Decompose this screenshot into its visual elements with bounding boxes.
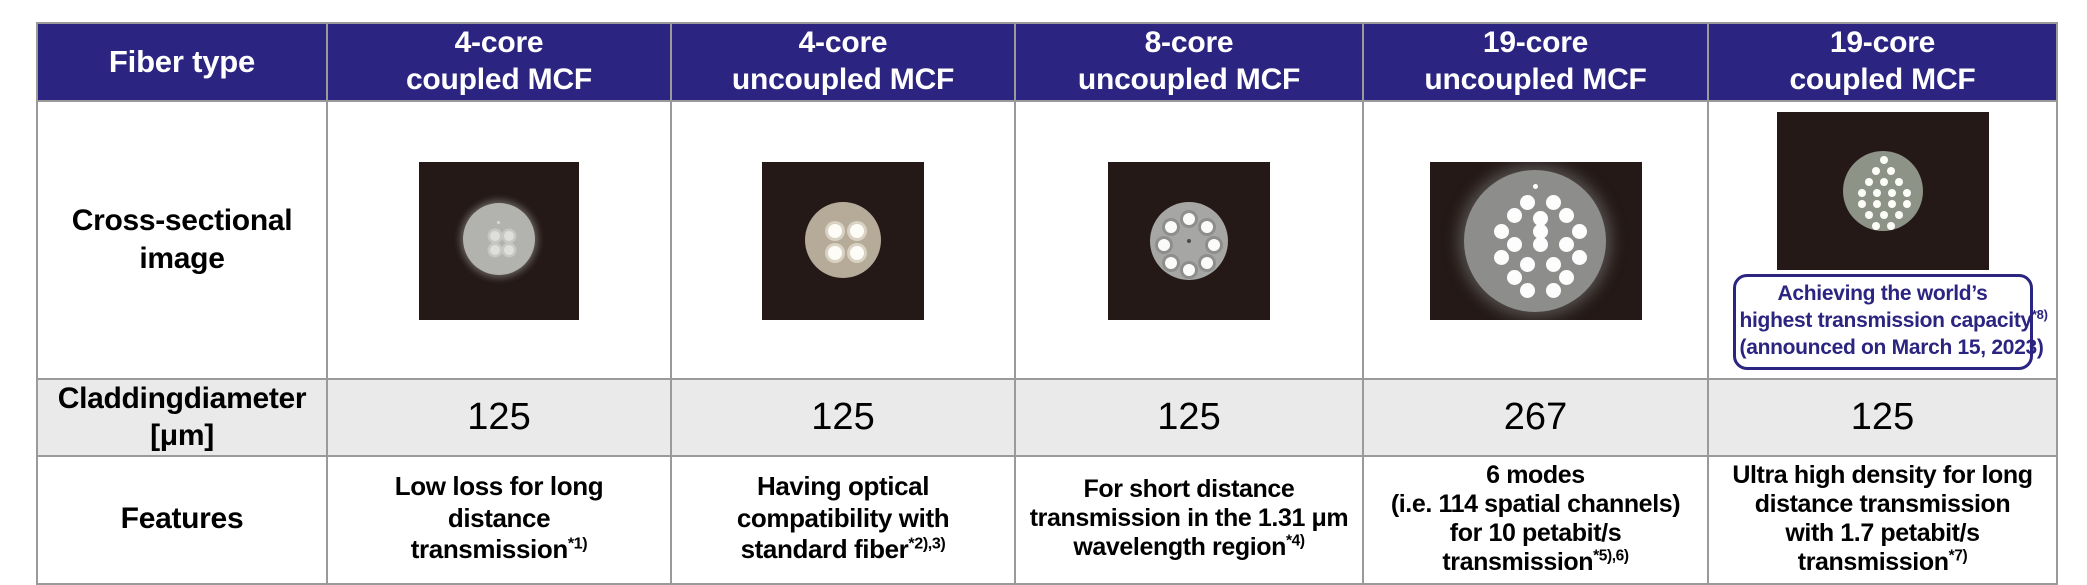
- core-16: [1895, 211, 1903, 219]
- core-2: [1546, 195, 1561, 210]
- cell-diameter-8core-uncoupled: 125: [1015, 379, 1363, 456]
- core-speck: [497, 221, 500, 224]
- feature-footnote-marker: *1): [568, 535, 587, 553]
- feature-line-2: distance: [333, 503, 665, 534]
- core-14: [1865, 211, 1873, 219]
- feature-line-2: transmission in the 1.31 μm: [1021, 504, 1357, 533]
- core-1: [1872, 167, 1880, 175]
- header-row: Fiber type 4-core coupled MCF 4-core unc…: [37, 23, 2057, 101]
- core-7: [1572, 224, 1587, 239]
- core-13: [1520, 257, 1535, 272]
- row-cladding-diameter: Claddingdiameter [μm] 125 125 125 267 12…: [37, 379, 2057, 456]
- core-18: [1887, 222, 1895, 230]
- core-10: [1858, 200, 1866, 208]
- core-1: [828, 224, 842, 238]
- header-line-1: 19-core: [1364, 25, 1707, 62]
- callout-line-2: highest transmission capacity*8): [1740, 308, 2026, 335]
- cell-diameter-4core-uncoupled: 125: [671, 379, 1015, 456]
- cell-diameter-19core-uncoupled: 267: [1363, 379, 1708, 456]
- cladding-disc: [805, 202, 881, 278]
- core-1: [1520, 195, 1535, 210]
- cell-image-4core-coupled: [327, 101, 671, 379]
- cross-section-image-19core-uncoupled: [1430, 162, 1642, 320]
- feature-line-3-text: transmission: [411, 534, 568, 564]
- feature-line-3-text: standard fiber: [741, 534, 909, 564]
- cell-features-19core-coupled: Ultra high density for long distance tra…: [1708, 456, 2057, 584]
- image-wrapper: [1016, 162, 1362, 320]
- core-5: [1183, 264, 1195, 276]
- feature-line-4-text: transmission: [1442, 548, 1593, 576]
- row-label-features: Features: [37, 456, 327, 584]
- core-17: [1520, 283, 1535, 298]
- core-4: [504, 245, 514, 255]
- core-11: [1494, 250, 1509, 265]
- feature-line-3: with 1.7 petabit/s: [1714, 519, 2051, 548]
- fiber-comparison-table: Fiber type 4-core coupled MCF 4-core unc…: [36, 22, 2058, 585]
- core-10: [1559, 237, 1574, 252]
- image-wrapper: [328, 162, 670, 320]
- core-3: [490, 245, 500, 255]
- row-label-line-1: Claddingdiameter: [38, 380, 326, 418]
- core-12: [1572, 250, 1587, 265]
- header-col-19core-coupled: 19-core coupled MCF: [1708, 23, 2057, 101]
- cross-section-image-8core-uncoupled: [1108, 162, 1270, 320]
- header-col-4core-uncoupled: 4-core uncoupled MCF: [671, 23, 1015, 101]
- header-line-2: coupled MCF: [1709, 62, 2056, 99]
- core-3: [828, 246, 842, 260]
- core-1: [1183, 213, 1195, 225]
- core-18: [1546, 283, 1561, 298]
- cell-features-8core-uncoupled: For short distance transmission in the 1…: [1015, 456, 1363, 584]
- feature-footnote-marker: *5),6): [1593, 547, 1629, 564]
- core-4: [1880, 178, 1888, 186]
- feature-line-4-text: transmission: [1798, 548, 1949, 576]
- core-15: [1507, 270, 1522, 285]
- feature-line-1: Ultra high density for long: [1714, 461, 2051, 490]
- feature-line-4: transmission*7): [1714, 548, 2051, 577]
- core-2: [1887, 167, 1895, 175]
- row-label-cladding-diameter: Claddingdiameter [μm]: [37, 379, 327, 456]
- core-12: [1888, 200, 1896, 208]
- header-line-2: uncoupled MCF: [1016, 62, 1362, 99]
- header-line-1: 8-core: [1016, 25, 1362, 62]
- row-label-line-2: image: [38, 240, 326, 278]
- core-1: [490, 231, 500, 241]
- core-5: [1895, 178, 1903, 186]
- core-2: [504, 231, 514, 241]
- core-16: [1559, 270, 1574, 285]
- feature-footnote-marker: *4): [1286, 533, 1305, 550]
- callout-line-2-text: highest transmission capacity: [1740, 309, 2032, 332]
- header-col-8core-uncoupled: 8-core uncoupled MCF: [1015, 23, 1363, 101]
- image-wrapper: [672, 162, 1014, 320]
- cell-features-19core-uncoupled: 6 modes (i.e. 114 spatial channels) for …: [1363, 456, 1708, 584]
- header-line-2: coupled MCF: [328, 62, 670, 99]
- core-3: [1507, 208, 1522, 223]
- core-4: [850, 246, 864, 260]
- image-wrapper: [1364, 162, 1707, 320]
- header-line-1: 4-core: [328, 25, 670, 62]
- cell-image-19core-uncoupled: [1363, 101, 1708, 379]
- feature-footnote-marker: *2),3): [908, 535, 945, 553]
- image-wrapper: Achieving the world’s highest transmissi…: [1709, 112, 2056, 370]
- core-15: [1880, 211, 1888, 219]
- row-label-cross-sectional-image: Cross-sectional image: [37, 101, 327, 379]
- feature-line-1: Low loss for long: [333, 471, 665, 502]
- feature-line-3: standard fiber*2),3): [677, 534, 1009, 565]
- feature-line-2: (i.e. 114 spatial channels): [1369, 490, 1702, 519]
- core-8: [1888, 189, 1896, 197]
- core-speck: [1533, 184, 1538, 189]
- cell-features-4core-uncoupled: Having optical compatibility with standa…: [671, 456, 1015, 584]
- cell-image-19core-coupled: Achieving the world’s highest transmissi…: [1708, 101, 2057, 379]
- row-cross-sectional-image: Cross-sectional image: [37, 101, 2057, 379]
- core-8: [1507, 237, 1522, 252]
- core-center-speck: [1187, 239, 1191, 243]
- header-line-2: uncoupled MCF: [1364, 62, 1707, 99]
- core-8: [1165, 221, 1177, 233]
- core-9: [1903, 189, 1911, 197]
- feature-line-3: wavelength region*4): [1021, 533, 1357, 562]
- cell-features-4core-coupled: Low loss for long distance transmission*…: [327, 456, 671, 584]
- feature-line-3: transmission*1): [333, 534, 665, 565]
- row-label-line-2: [μm]: [38, 417, 326, 455]
- core-7: [1158, 239, 1170, 251]
- cell-image-4core-uncoupled: [671, 101, 1015, 379]
- core-4: [1201, 257, 1213, 269]
- core-9: [1533, 237, 1548, 252]
- feature-line-2: distance transmission: [1714, 490, 2051, 519]
- row-features: Features Low loss for long distance tran…: [37, 456, 2057, 584]
- core-2: [850, 224, 864, 238]
- core-17: [1872, 222, 1880, 230]
- core-11: [1873, 200, 1881, 208]
- core-19: [1880, 156, 1888, 164]
- feature-line-3-text: wavelength region: [1073, 533, 1286, 561]
- table-body: Cross-sectional image: [37, 101, 2057, 584]
- feature-line-1: 6 modes: [1369, 461, 1702, 490]
- achievement-callout: Achieving the world’s highest transmissi…: [1733, 274, 2033, 370]
- feature-line-2: compatibility with: [677, 503, 1009, 534]
- core-6: [1494, 224, 1509, 239]
- cell-image-8core-uncoupled: [1015, 101, 1363, 379]
- core-13: [1903, 200, 1911, 208]
- callout-line-1: Achieving the world’s: [1740, 281, 2026, 308]
- feature-line-1: Having optical: [677, 471, 1009, 502]
- header-line-1: 4-core: [672, 25, 1014, 62]
- cross-section-image-4core-uncoupled: [762, 162, 924, 320]
- core-5: [1559, 208, 1574, 223]
- callout-line-3: (announced on March 15, 2023): [1740, 335, 2026, 362]
- feature-line-3: for 10 petabit/s: [1369, 519, 1702, 548]
- header-col-19core-uncoupled: 19-core uncoupled MCF: [1363, 23, 1708, 101]
- core-2: [1201, 221, 1213, 233]
- cell-diameter-4core-coupled: 125: [327, 379, 671, 456]
- cross-section-image-4core-coupled: [419, 162, 579, 320]
- cross-section-image-19core-coupled: [1777, 112, 1989, 270]
- table-header: Fiber type 4-core coupled MCF 4-core unc…: [37, 23, 2057, 101]
- core-3: [1865, 178, 1873, 186]
- feature-line-1: For short distance: [1021, 475, 1357, 504]
- callout-footnote-marker: *8): [2032, 307, 2048, 322]
- fiber-comparison-table-page: Fiber type 4-core coupled MCF 4-core unc…: [0, 0, 2087, 579]
- core-3: [1208, 239, 1220, 251]
- header-col-4core-coupled: 4-core coupled MCF: [327, 23, 671, 101]
- core-7: [1873, 189, 1881, 197]
- feature-line-4: transmission*5),6): [1369, 548, 1702, 577]
- header-line-2: uncoupled MCF: [672, 62, 1014, 99]
- header-fiber-type: Fiber type: [37, 23, 327, 101]
- cell-diameter-19core-coupled: 125: [1708, 379, 2057, 456]
- row-label-line-1: Cross-sectional: [38, 202, 326, 240]
- header-line-1: 19-core: [1709, 25, 2056, 62]
- feature-footnote-marker: *7): [1949, 547, 1968, 564]
- core-19: [1533, 224, 1548, 239]
- core-6: [1858, 189, 1866, 197]
- core-14: [1546, 257, 1561, 272]
- core-6: [1165, 257, 1177, 269]
